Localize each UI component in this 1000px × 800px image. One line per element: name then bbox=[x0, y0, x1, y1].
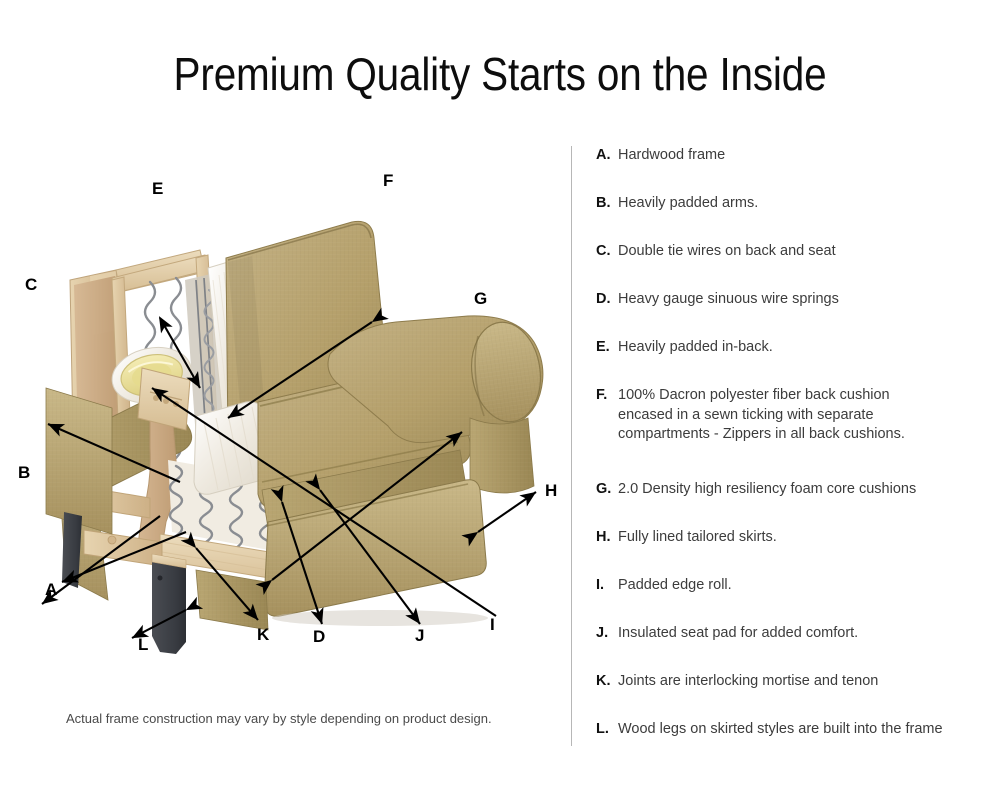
legend-item-a: A. Hardwood frame bbox=[596, 146, 986, 166]
legend-item-k: K. Joints are interlocking mortise and t… bbox=[596, 672, 986, 692]
legend-item-l: L. Wood legs on skirted styles are built… bbox=[596, 720, 996, 740]
legend-letter-e: E. bbox=[596, 338, 618, 357]
legend-item-d: D. Heavy gauge sinuous wire springs bbox=[596, 290, 986, 310]
legend-item-c: C. Double tie wires on back and seat bbox=[596, 242, 986, 262]
page-title: Premium Quality Starts on the Inside bbox=[60, 46, 940, 102]
legend-letter-b: B. bbox=[596, 194, 618, 213]
legend-letter-j: J. bbox=[596, 624, 618, 643]
legend-item-j: J. Insulated seat pad for added comfort. bbox=[596, 624, 986, 644]
legend-item-f: F. 100% Dacron polyester fiber back cush… bbox=[596, 386, 986, 445]
legend-letter-i: I. bbox=[596, 576, 618, 595]
legend-letter-c: C. bbox=[596, 242, 618, 261]
legend-text-d: Heavy gauge sinuous wire springs bbox=[618, 290, 839, 310]
legend-letter-g: G. bbox=[596, 480, 618, 499]
legend-item-e: E. Heavily padded in-back. bbox=[596, 338, 986, 358]
front-leg bbox=[152, 554, 186, 654]
legend-text-j: Insulated seat pad for added comfort. bbox=[618, 624, 858, 644]
legend-letter-a: A. bbox=[596, 146, 618, 165]
legend-item-i: I. Padded edge roll. bbox=[596, 576, 986, 596]
vertical-divider bbox=[571, 146, 572, 746]
legend-text-l: Wood legs on skirted styles are built in… bbox=[618, 720, 943, 740]
legend-letter-h: H. bbox=[596, 528, 618, 547]
legend-text-c: Double tie wires on back and seat bbox=[618, 242, 836, 262]
legend-text-a: Hardwood frame bbox=[618, 146, 725, 166]
legend-letter-k: K. bbox=[596, 672, 618, 691]
legend-text-g: 2.0 Density high resiliency foam core cu… bbox=[618, 480, 916, 500]
legend-text-k: Joints are interlocking mortise and teno… bbox=[618, 672, 878, 692]
legend-text-b: Heavily padded arms. bbox=[618, 194, 758, 214]
legend-item-g: G. 2.0 Density high resiliency foam core… bbox=[596, 480, 986, 500]
legend-letter-d: D. bbox=[596, 290, 618, 309]
disclaimer-caption: Actual frame construction may vary by st… bbox=[66, 710, 536, 728]
legend-text-f: 100% Dacron polyester fiber back cushion… bbox=[618, 386, 905, 445]
legend-text-i: Padded edge roll. bbox=[618, 576, 732, 596]
chair-cutaway-illustration bbox=[0, 130, 570, 700]
legend-text-h: Fully lined tailored skirts. bbox=[618, 528, 777, 548]
legend-letter-l: L. bbox=[596, 720, 618, 739]
legend-item-b: B. Heavily padded arms. bbox=[596, 194, 986, 214]
infographic-page: Premium Quality Starts on the Inside bbox=[0, 0, 1000, 800]
legend-letter-f: F. bbox=[596, 386, 618, 405]
legend-text-e: Heavily padded in-back. bbox=[618, 338, 773, 358]
legend-item-h: H. Fully lined tailored skirts. bbox=[596, 528, 986, 548]
